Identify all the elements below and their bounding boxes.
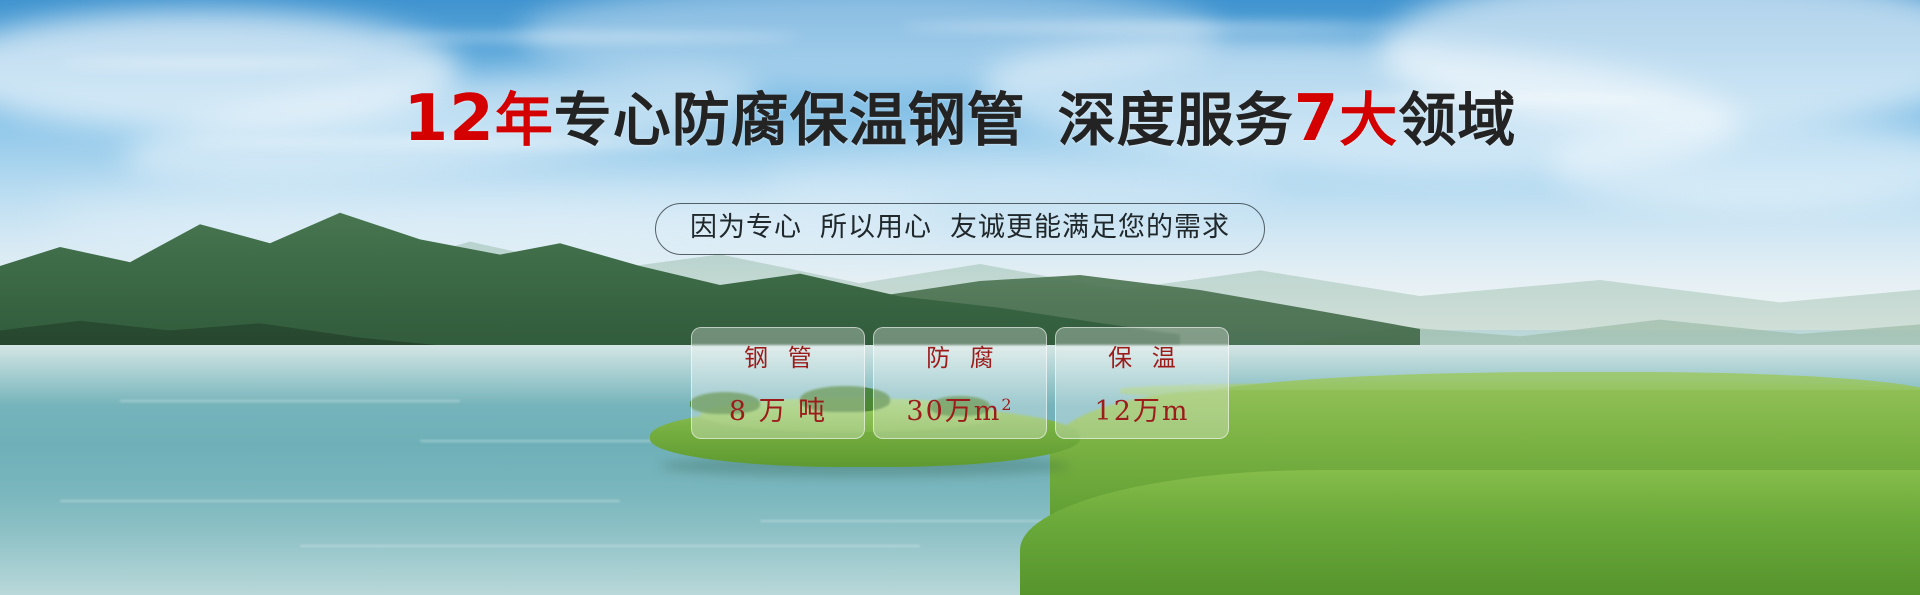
water-ripple	[120, 400, 460, 402]
stat-card-value-text: 8 万 吨	[729, 396, 827, 427]
headline-segment-1: 专心防腐保温钢管	[554, 86, 1026, 154]
stat-card-group: 钢 管 8 万 吨 防 腐 30万m2 保 温 12万m	[691, 327, 1229, 439]
cloud-wisp	[60, 60, 360, 66]
headline-highlight-unit: 大	[1339, 86, 1398, 154]
stat-card-title: 钢 管	[738, 338, 818, 373]
stat-card-value: 30万m2	[906, 389, 1013, 428]
stat-card-value: 8 万 吨	[729, 389, 827, 428]
banner-headline: 12年专心防腐保温钢管深度服务7大领域	[0, 88, 1920, 151]
subtitle-pill: 因为专心所以用心友诚更能满足您的需求	[655, 203, 1265, 255]
stat-card-value-text: 30万m	[906, 396, 1001, 427]
headline-segment-2: 深度服务	[1058, 86, 1294, 154]
cloud-wisp	[900, 24, 1400, 30]
stat-card-value-sup: 2	[1001, 395, 1013, 414]
headline-highlight-number: 7	[1294, 82, 1340, 156]
stat-card-title: 防 腐	[920, 338, 1000, 373]
cloud-wisp	[380, 34, 800, 40]
water-ripple	[760, 520, 1060, 522]
stat-card-anticorrosion[interactable]: 防 腐 30万m2	[873, 327, 1047, 439]
headline-years-unit: 年	[495, 86, 554, 154]
hero-banner: 12年专心防腐保温钢管深度服务7大领域 因为专心所以用心友诚更能满足您的需求 钢…	[0, 0, 1920, 595]
stat-card-insulation[interactable]: 保 温 12万m	[1055, 327, 1229, 439]
water-ripple	[60, 500, 620, 502]
subtitle-part-1: 因为专心	[690, 212, 802, 243]
stat-card-value-text: 12万m	[1095, 396, 1190, 427]
headline-segment-3: 领域	[1398, 86, 1516, 154]
water-ripple	[300, 545, 920, 547]
stat-card-title: 保 温	[1102, 338, 1182, 373]
subtitle-part-2: 所以用心	[820, 212, 932, 243]
cloud-shape	[760, 150, 1280, 210]
grass-foreground	[1020, 470, 1920, 595]
headline-years-number: 12	[404, 82, 495, 156]
subtitle-part-3: 友诚更能满足您的需求	[950, 212, 1230, 243]
stat-card-steel-pipe[interactable]: 钢 管 8 万 吨	[691, 327, 865, 439]
stat-card-value: 12万m	[1095, 389, 1190, 428]
